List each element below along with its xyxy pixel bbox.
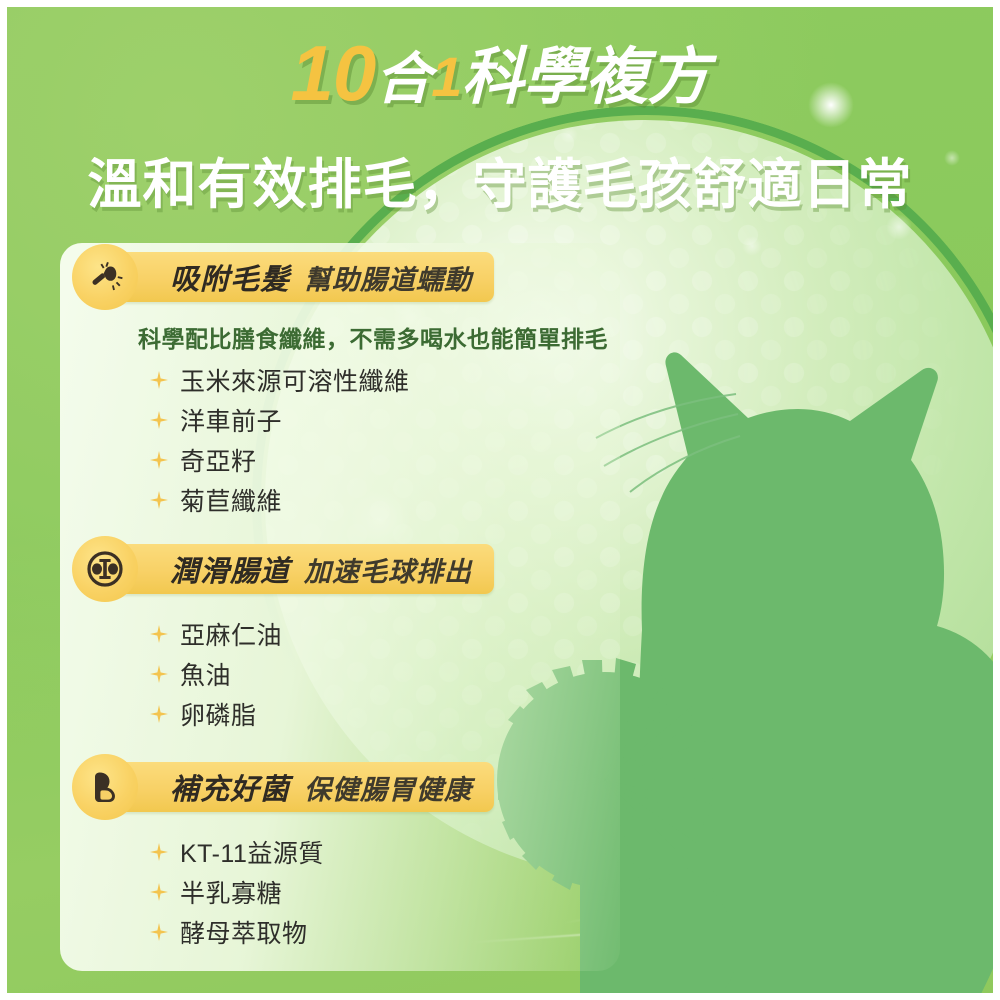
list-item-label: 魚油	[180, 656, 231, 692]
list-item: 半乳寡糖	[146, 872, 324, 912]
sparkle-icon	[146, 665, 172, 683]
list-item: 洋車前子	[146, 400, 410, 440]
headline-word-formula: 科學複方	[461, 43, 709, 112]
bokeh-glow	[742, 236, 762, 256]
sparkle-icon	[146, 843, 172, 861]
sparkle-icon	[146, 371, 172, 389]
headline-number-10: 10	[291, 29, 376, 117]
list-item: 亞麻仁油	[146, 614, 282, 654]
sparkle-icon	[146, 625, 172, 643]
section-3-title: 補充好菌	[170, 766, 290, 808]
list-item-label: 玉米來源可溶性纖維	[180, 362, 410, 398]
section-1-pill: 吸附毛髮 幫助腸道蠕動	[112, 252, 494, 302]
list-item: KT-11益源質	[146, 832, 324, 872]
list-item: 魚油	[146, 654, 282, 694]
list-item: 酵母萃取物	[146, 912, 324, 952]
list-item-label: 洋車前子	[180, 402, 282, 438]
section-1-list: 玉米來源可溶性纖維 洋車前子 奇亞籽 菊苣纖維	[146, 360, 410, 520]
sparkle-icon	[146, 451, 172, 469]
list-item-label: 亞麻仁油	[180, 616, 282, 652]
headline-word-he: 合	[375, 47, 431, 110]
section-3-pill: 補充好菌 保健腸胃健康	[112, 762, 494, 812]
list-item: 玉米來源可溶性纖維	[146, 360, 410, 400]
section-1-title: 吸附毛髮	[170, 256, 290, 298]
sparkle-icon	[146, 705, 172, 723]
section-3-list: KT-11益源質 半乳寡糖 酵母萃取物	[146, 832, 324, 952]
sparkle-icon	[146, 411, 172, 429]
section-2-pill: 潤滑腸道 加速毛球排出	[112, 544, 494, 594]
list-item-label: 卵磷脂	[180, 696, 257, 732]
section-2-subtitle: 加速毛球排出	[304, 550, 472, 589]
list-item-label: 菊苣纖維	[180, 482, 282, 518]
page-title: 10合1科學複方	[0, 26, 1000, 119]
section-2-title: 潤滑腸道	[170, 548, 290, 590]
sparkle-icon	[146, 883, 172, 901]
list-item-label: 奇亞籽	[180, 442, 257, 478]
section-3-subtitle: 保健腸胃健康	[304, 768, 472, 807]
list-item: 卵磷脂	[146, 694, 282, 734]
section-2-list: 亞麻仁油 魚油 卵磷脂	[146, 614, 282, 734]
section-1-description: 科學配比膳食纖維，不需多喝水也能簡單排毛	[138, 320, 608, 354]
promotional-poster: 10合1科學複方 溫和有效排毛，守護毛孩舒適日常 吸附毛髮 幫助腸道蠕動	[0, 0, 1000, 1000]
sparkle-icon	[146, 923, 172, 941]
list-item-label: 酵母萃取物	[180, 914, 308, 950]
vacuum-nozzle-icon	[72, 244, 138, 310]
intestine-lubrication-icon	[72, 536, 138, 602]
list-item: 菊苣纖維	[146, 480, 410, 520]
list-item-label: KT-11益源質	[180, 834, 324, 870]
sparkle-icon	[146, 491, 172, 509]
flexed-bicep-icon	[72, 754, 138, 820]
list-item: 奇亞籽	[146, 440, 410, 480]
headline-number-1: 1	[431, 45, 461, 108]
list-item-label: 半乳寡糖	[180, 874, 282, 910]
page-subtitle: 溫和有效排毛，守護毛孩舒適日常	[0, 140, 1000, 219]
section-1-subtitle: 幫助腸道蠕動	[304, 258, 472, 297]
